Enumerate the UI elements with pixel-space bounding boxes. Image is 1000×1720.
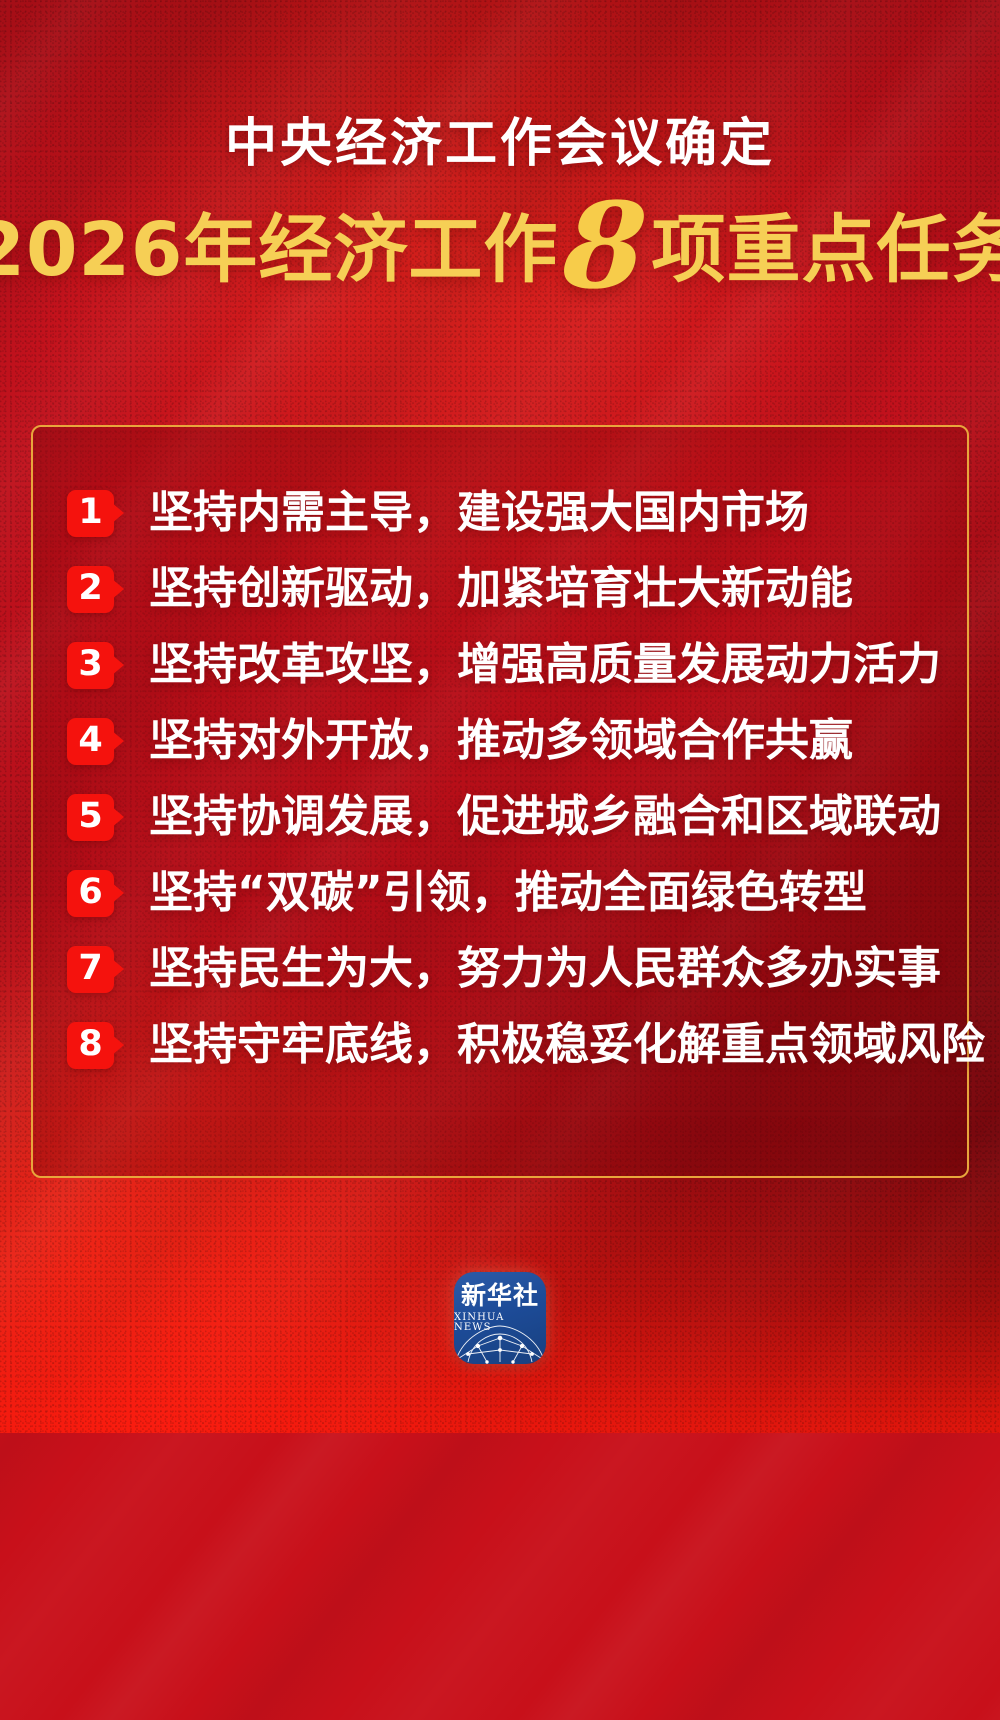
task-number: 6	[78, 875, 102, 910]
task-text: 坚持改革攻坚，增强高质量发展动力活力	[149, 643, 941, 687]
task-number: 1	[78, 495, 102, 530]
task-number: 8	[78, 1027, 102, 1062]
task-row: 5 坚持协调发展，促进城乡融合和区域联动	[67, 779, 947, 855]
task-text: 坚持创新驱动，加紧培育壮大新动能	[149, 567, 853, 611]
task-number-badge: 2	[67, 566, 114, 613]
task-row: 4 坚持对外开放，推动多领域合作共赢	[67, 703, 947, 779]
task-row: 8 坚持守牢底线，积极稳妥化解重点领域风险	[67, 1007, 947, 1083]
poster-title-before: 2026年经济工作	[0, 213, 558, 287]
task-text: 坚持“双碳”引领，推动全面绿色转型	[149, 871, 867, 915]
poster-title: 2026年经济工作 8 项重点任务	[0, 204, 1000, 296]
logo-chinese-name: 新华社	[461, 1283, 539, 1308]
logo-container: 新华社 XINHUA NEWS	[0, 1272, 1000, 1364]
task-number-badge: 7	[67, 946, 114, 993]
task-number-badge: 8	[67, 1022, 114, 1069]
task-text: 坚持内需主导，建设强大国内市场	[149, 491, 809, 535]
task-text: 坚持协调发展，促进城乡融合和区域联动	[149, 795, 941, 839]
task-text: 坚持民生为大，努力为人民群众多办实事	[149, 947, 941, 991]
task-number: 7	[78, 951, 102, 986]
poster-header: 中央经济工作会议确定 2026年经济工作 8 项重点任务	[0, 118, 1000, 296]
task-number: 2	[78, 571, 102, 606]
task-number-badge: 5	[67, 794, 114, 841]
poster-subtitle: 中央经济工作会议确定	[0, 118, 1000, 170]
task-text: 坚持守牢底线，积极稳妥化解重点领域风险	[149, 1023, 985, 1067]
task-row: 1 坚持内需主导，建设强大国内市场	[67, 475, 947, 551]
poster-title-number-8: 8	[561, 200, 651, 292]
task-number-badge: 3	[67, 642, 114, 689]
task-row: 6 坚持“双碳”引领，推动全面绿色转型	[67, 855, 947, 931]
task-number: 5	[78, 799, 102, 834]
task-row: 7 坚持民生为大，努力为人民群众多办实事	[67, 931, 947, 1007]
task-text: 坚持对外开放，推动多领域合作共赢	[149, 719, 853, 763]
task-number: 4	[78, 723, 102, 758]
xinhua-news-logo-icon: 新华社 XINHUA NEWS	[454, 1272, 546, 1364]
task-number-badge: 1	[67, 490, 114, 537]
task-number-badge: 6	[67, 870, 114, 917]
network-globe-icon	[454, 1322, 546, 1364]
tasks-list: 1 坚持内需主导，建设强大国内市场 2 坚持创新驱动，加紧培育壮大新动能 3 坚…	[67, 475, 947, 1083]
task-row: 3 坚持改革攻坚，增强高质量发展动力活力	[67, 627, 947, 703]
task-number: 3	[78, 647, 102, 682]
task-row: 2 坚持创新驱动，加紧培育壮大新动能	[67, 551, 947, 627]
task-number-badge: 4	[67, 718, 114, 765]
tasks-card: 1 坚持内需主导，建设强大国内市场 2 坚持创新驱动，加紧培育壮大新动能 3 坚…	[31, 425, 969, 1178]
poster-title-after: 项重点任务	[652, 213, 1000, 287]
